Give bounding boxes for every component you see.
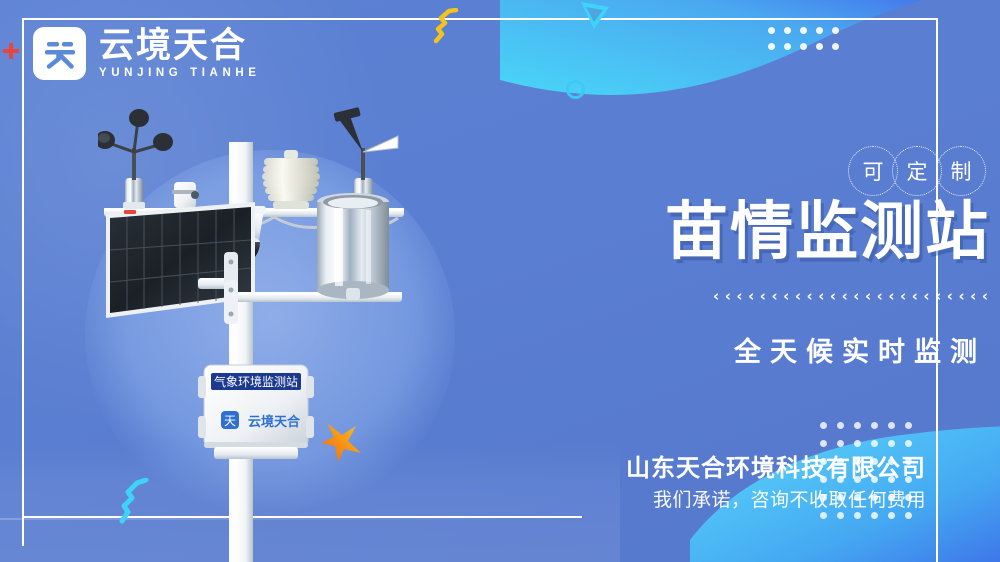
promise-text: 我们承诺，咨询不收取任何费用	[653, 485, 926, 512]
radiation-shield-sensor	[262, 150, 320, 209]
chevron-glyph: ‹	[818, 287, 824, 305]
customizable-badges: 可 定 制	[854, 146, 986, 196]
anemometer-cup-sensor	[98, 109, 173, 209]
chevron-glyph: ‹	[958, 287, 964, 305]
badge-ke: 可	[848, 146, 898, 196]
frame-left-edge	[22, 18, 24, 546]
chevron-glyph: ‹	[771, 287, 777, 305]
chevron-glyph: ‹	[760, 287, 766, 305]
device-box-logo-icon: 天	[224, 414, 236, 428]
chevron-glyph: ‹	[748, 287, 754, 305]
chevron-glyph: ‹	[970, 287, 976, 305]
cyan-ring-icon	[566, 80, 585, 99]
monitoring-station-illustration: 气象环境监测站 天 云境天合	[98, 90, 428, 562]
badge-ding: 定	[892, 146, 942, 196]
chevron-glyph: ‹	[795, 287, 801, 305]
red-plus-icon	[2, 42, 20, 60]
chevron-glyph: ‹	[830, 287, 836, 305]
chevron-glyph: ‹	[713, 287, 719, 305]
brand-name-cn: 云境天合	[99, 28, 261, 64]
chevron-glyph: ‹	[935, 287, 941, 305]
brand-name-en: YUNJING TIANHE	[99, 67, 261, 79]
company-name: 山东天合环境科技有限公司	[626, 448, 926, 483]
chevron-glyph: ‹	[807, 287, 813, 305]
promo-banner: 气象环境监测站 天 云境天合 云境天合 YUNJING TIANHE 可	[0, 0, 1000, 562]
control-enclosure: 气象环境监测站 天 云境天合	[198, 365, 314, 448]
device-label-badge: 气象环境监测站	[214, 374, 298, 389]
page-title: 苗情监测站	[665, 200, 990, 263]
frame-top-edge	[22, 18, 937, 20]
device-label-brand: 云境天合	[248, 414, 301, 430]
badge-zhi: 制	[936, 146, 986, 196]
brand-logo[interactable]: 云境天合 YUNJING TIANHE	[33, 27, 261, 80]
chevron-glyph: ‹	[888, 287, 894, 305]
chevron-glyph: ‹	[725, 287, 731, 305]
chevron-divider: ‹‹‹‹‹‹‹‹‹‹‹‹‹‹‹‹‹‹‹‹‹‹‹‹	[713, 287, 988, 305]
cyan-triangle-icon	[578, 0, 612, 30]
stainless-rain-gauge	[317, 193, 389, 300]
yellow-zigzag-icon	[432, 8, 466, 44]
chevron-glyph: ‹	[923, 287, 929, 305]
auxiliary-sensor-box	[172, 182, 199, 208]
chevron-glyph: ‹	[900, 287, 906, 305]
chevron-glyph: ‹	[783, 287, 789, 305]
chevron-glyph: ‹	[877, 287, 883, 305]
tianhe-logo-icon	[33, 27, 86, 80]
dot-grid-top-right	[768, 27, 848, 59]
chevron-glyph: ‹	[842, 287, 848, 305]
chevron-glyph: ‹	[912, 287, 918, 305]
chevron-glyph: ‹	[947, 287, 953, 305]
chevron-glyph: ‹	[736, 287, 742, 305]
chevron-glyph: ‹	[865, 287, 871, 305]
page-subtitle: 全天候实时监测	[734, 330, 986, 369]
chevron-glyph: ‹	[982, 287, 988, 305]
chevron-glyph: ‹	[853, 287, 859, 305]
